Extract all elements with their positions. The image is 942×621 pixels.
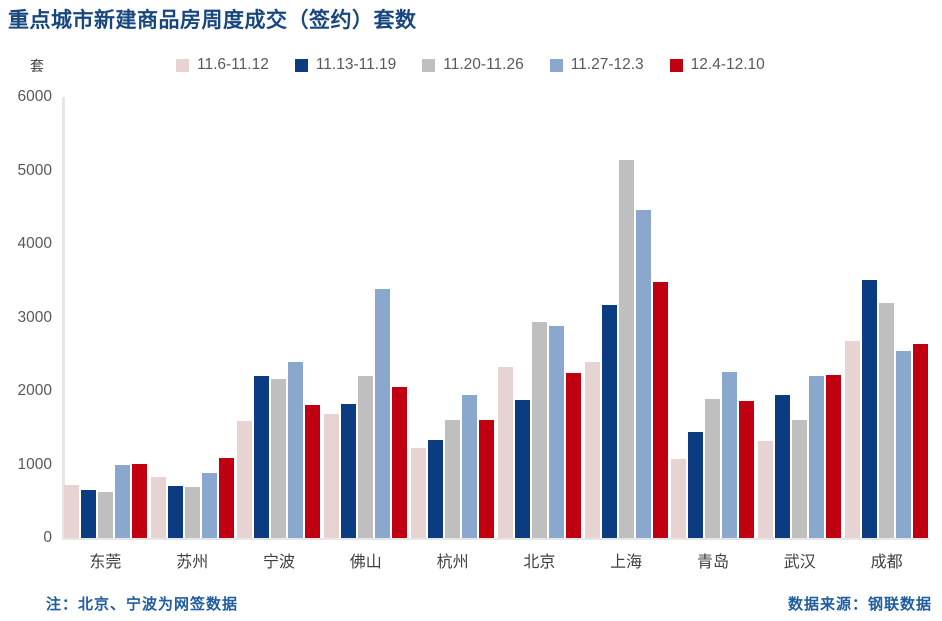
legend-label: 11.27-12.3 bbox=[571, 56, 644, 74]
bar[interactable] bbox=[792, 420, 807, 538]
x-axis-label: 杭州 bbox=[409, 548, 496, 572]
bar[interactable] bbox=[688, 432, 703, 538]
bar[interactable] bbox=[288, 362, 303, 538]
bar[interactable] bbox=[775, 395, 790, 538]
y-axis-tick-label: 6000 bbox=[18, 88, 52, 106]
chart-legend: 11.6-11.1211.13-11.1911.20-11.2611.27-12… bbox=[176, 56, 765, 74]
bar[interactable] bbox=[358, 376, 373, 538]
bar[interactable] bbox=[566, 373, 581, 538]
bar-group bbox=[670, 97, 757, 538]
bar[interactable] bbox=[739, 401, 754, 538]
x-axis-label: 东莞 bbox=[62, 548, 149, 572]
bar-group bbox=[843, 97, 930, 538]
x-axis-label: 青岛 bbox=[670, 548, 757, 572]
bar[interactable] bbox=[185, 487, 200, 538]
chart-note: 注：北京、宁波为网签数据 bbox=[46, 593, 238, 614]
x-axis-label: 成都 bbox=[843, 548, 930, 572]
legend-swatch-icon bbox=[176, 59, 189, 72]
bar[interactable] bbox=[64, 485, 79, 538]
bar[interactable] bbox=[862, 280, 877, 538]
bar-group bbox=[409, 97, 496, 538]
chart-title: 重点城市新建商品房周度成交（签约）套数 bbox=[8, 4, 417, 34]
legend-swatch-icon bbox=[295, 59, 308, 72]
chart-source: 数据来源：钢联数据 bbox=[788, 593, 932, 614]
legend-label: 12.4-12.10 bbox=[691, 56, 765, 74]
bar[interactable] bbox=[636, 210, 651, 538]
bar[interactable] bbox=[671, 459, 686, 538]
bar[interactable] bbox=[896, 351, 911, 538]
bar-group bbox=[496, 97, 583, 538]
bar[interactable] bbox=[324, 414, 339, 538]
bar[interactable] bbox=[722, 372, 737, 538]
bar[interactable] bbox=[219, 458, 234, 538]
bar[interactable] bbox=[411, 448, 426, 538]
bar[interactable] bbox=[602, 305, 617, 538]
bar[interactable] bbox=[392, 387, 407, 538]
bar[interactable] bbox=[341, 404, 356, 538]
x-axis-line bbox=[62, 538, 930, 540]
legend-label: 11.6-11.12 bbox=[197, 56, 269, 74]
bar[interactable] bbox=[809, 376, 824, 538]
bar[interactable] bbox=[428, 440, 443, 538]
legend-label: 11.20-11.26 bbox=[443, 56, 523, 74]
legend-item[interactable]: 11.27-12.3 bbox=[550, 56, 644, 74]
bar[interactable] bbox=[619, 160, 634, 538]
bar-group bbox=[756, 97, 843, 538]
bar[interactable] bbox=[826, 375, 841, 538]
bar[interactable] bbox=[462, 395, 477, 538]
legend-item[interactable]: 12.4-12.10 bbox=[670, 56, 765, 74]
bar[interactable] bbox=[375, 289, 390, 538]
y-axis-tick-label: 4000 bbox=[18, 235, 52, 253]
bar-group bbox=[322, 97, 409, 538]
bar[interactable] bbox=[237, 421, 252, 538]
y-axis-ticks: 6000500040003000200010000 bbox=[0, 0, 52, 621]
y-axis-tick-label: 1000 bbox=[18, 456, 52, 474]
bar[interactable] bbox=[653, 282, 668, 539]
bar[interactable] bbox=[913, 344, 928, 538]
legend-item[interactable]: 11.20-11.26 bbox=[422, 56, 523, 74]
bar[interactable] bbox=[115, 465, 130, 538]
bar[interactable] bbox=[132, 464, 147, 538]
bar[interactable] bbox=[515, 400, 530, 538]
x-axis-label: 佛山 bbox=[322, 548, 409, 572]
bar[interactable] bbox=[532, 322, 547, 538]
y-axis-tick-label: 3000 bbox=[18, 309, 52, 327]
bar[interactable] bbox=[705, 399, 720, 538]
legend-swatch-icon bbox=[422, 59, 435, 72]
x-axis-label: 苏州 bbox=[149, 548, 236, 572]
legend-item[interactable]: 11.6-11.12 bbox=[176, 56, 269, 74]
bar[interactable] bbox=[879, 303, 894, 538]
bar-groups bbox=[62, 97, 930, 538]
bar[interactable] bbox=[254, 376, 269, 538]
x-axis-label: 武汉 bbox=[756, 548, 843, 572]
x-axis-label: 上海 bbox=[583, 548, 670, 572]
bar-group bbox=[149, 97, 236, 538]
y-axis-tick-label: 5000 bbox=[18, 162, 52, 180]
bar[interactable] bbox=[758, 441, 773, 538]
x-axis-labels: 东莞苏州宁波佛山杭州北京上海青岛武汉成都 bbox=[62, 548, 930, 572]
bar[interactable] bbox=[151, 477, 166, 538]
bar-group bbox=[62, 97, 149, 538]
bar[interactable] bbox=[202, 473, 217, 538]
x-axis-label: 宁波 bbox=[236, 548, 323, 572]
bar[interactable] bbox=[479, 420, 494, 538]
bar[interactable] bbox=[445, 420, 460, 538]
bar[interactable] bbox=[271, 379, 286, 538]
legend-swatch-icon bbox=[550, 59, 563, 72]
bar[interactable] bbox=[549, 326, 564, 538]
legend-swatch-icon bbox=[670, 59, 683, 72]
bar[interactable] bbox=[845, 341, 860, 538]
y-axis-tick-label: 2000 bbox=[18, 382, 52, 400]
legend-item[interactable]: 11.13-11.19 bbox=[295, 56, 396, 74]
bar[interactable] bbox=[168, 486, 183, 538]
bar-group bbox=[583, 97, 670, 538]
bar[interactable] bbox=[305, 405, 320, 538]
bar[interactable] bbox=[81, 490, 96, 539]
y-axis-tick-label: 0 bbox=[43, 529, 52, 547]
x-axis-label: 北京 bbox=[496, 548, 583, 572]
bar-group bbox=[236, 97, 323, 538]
bar[interactable] bbox=[498, 367, 513, 538]
bar[interactable] bbox=[585, 362, 600, 538]
bar[interactable] bbox=[98, 492, 113, 538]
legend-label: 11.13-11.19 bbox=[316, 56, 396, 74]
